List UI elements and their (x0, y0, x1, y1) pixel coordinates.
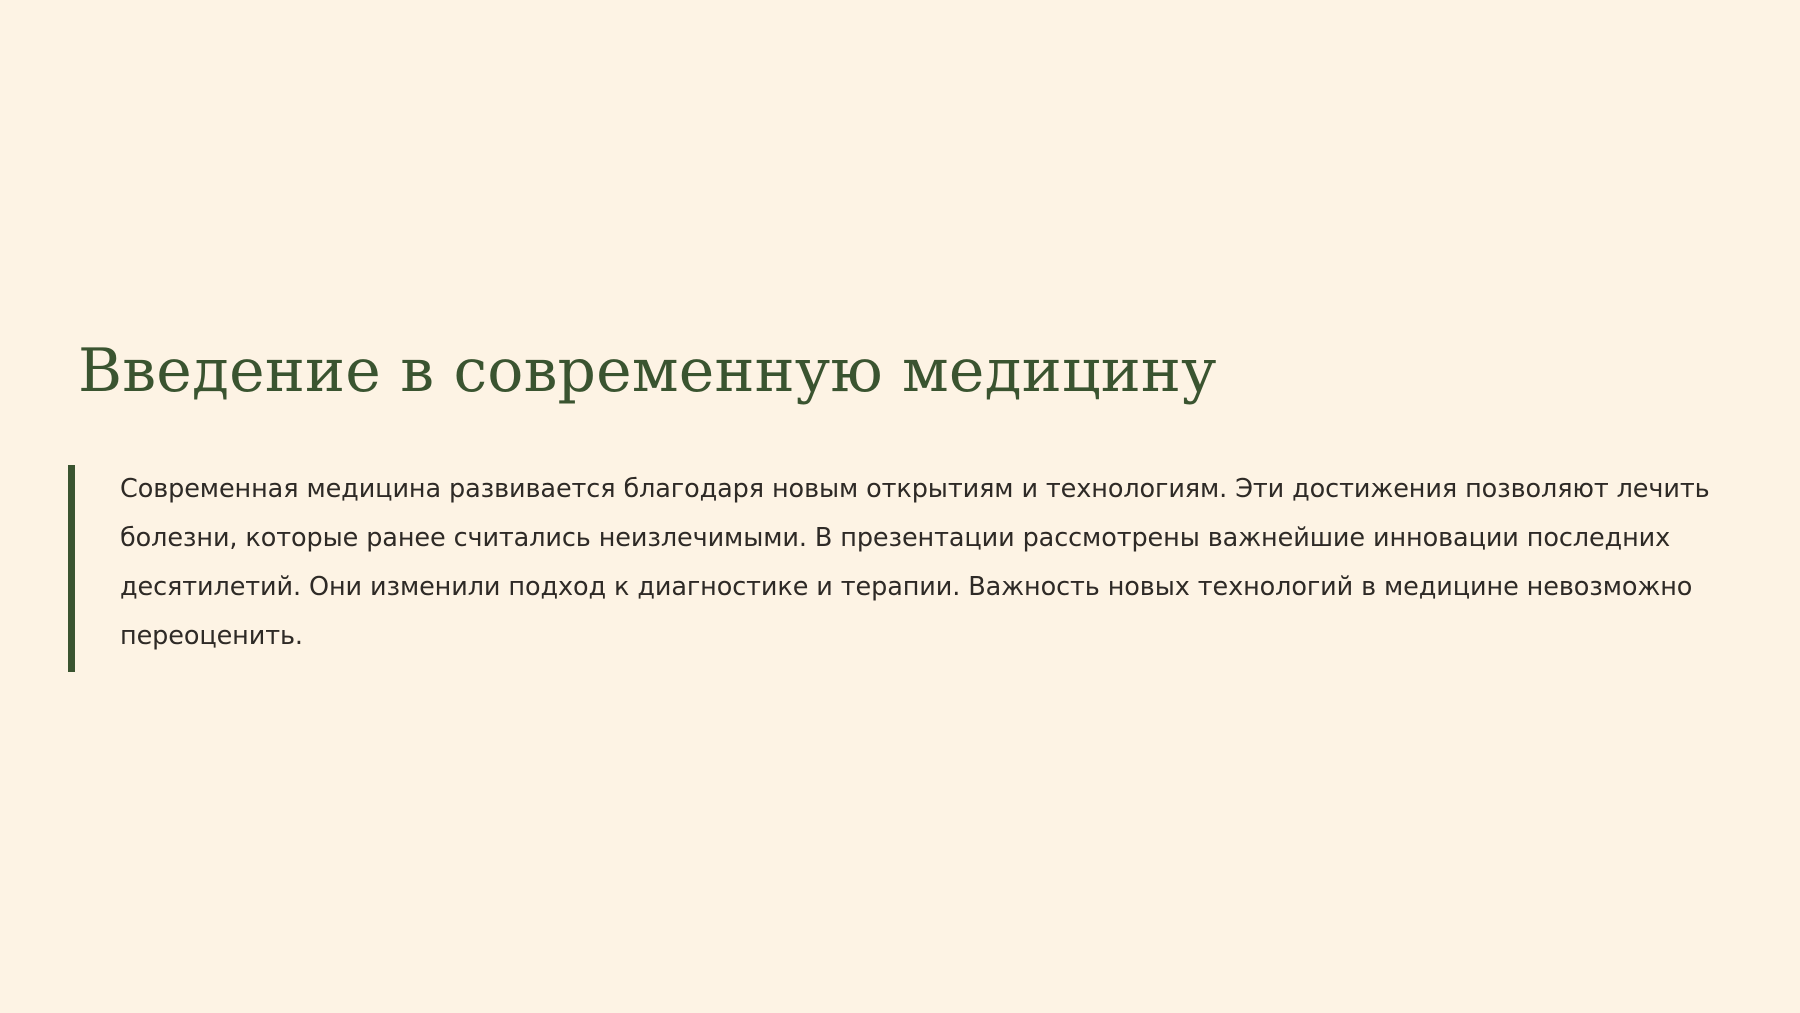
slide-body-text: Современная медицина развивается благода… (75, 465, 1728, 672)
slide-content-area: Введение в современную медицину Современ… (0, 0, 1800, 1013)
slide-title: Введение в современную медицину (78, 338, 1718, 405)
presentation-slide: Введение в современную медицину Современ… (0, 0, 1800, 1013)
accent-bar (68, 465, 75, 672)
body-quote-block: Современная медицина развивается благода… (68, 465, 1728, 672)
